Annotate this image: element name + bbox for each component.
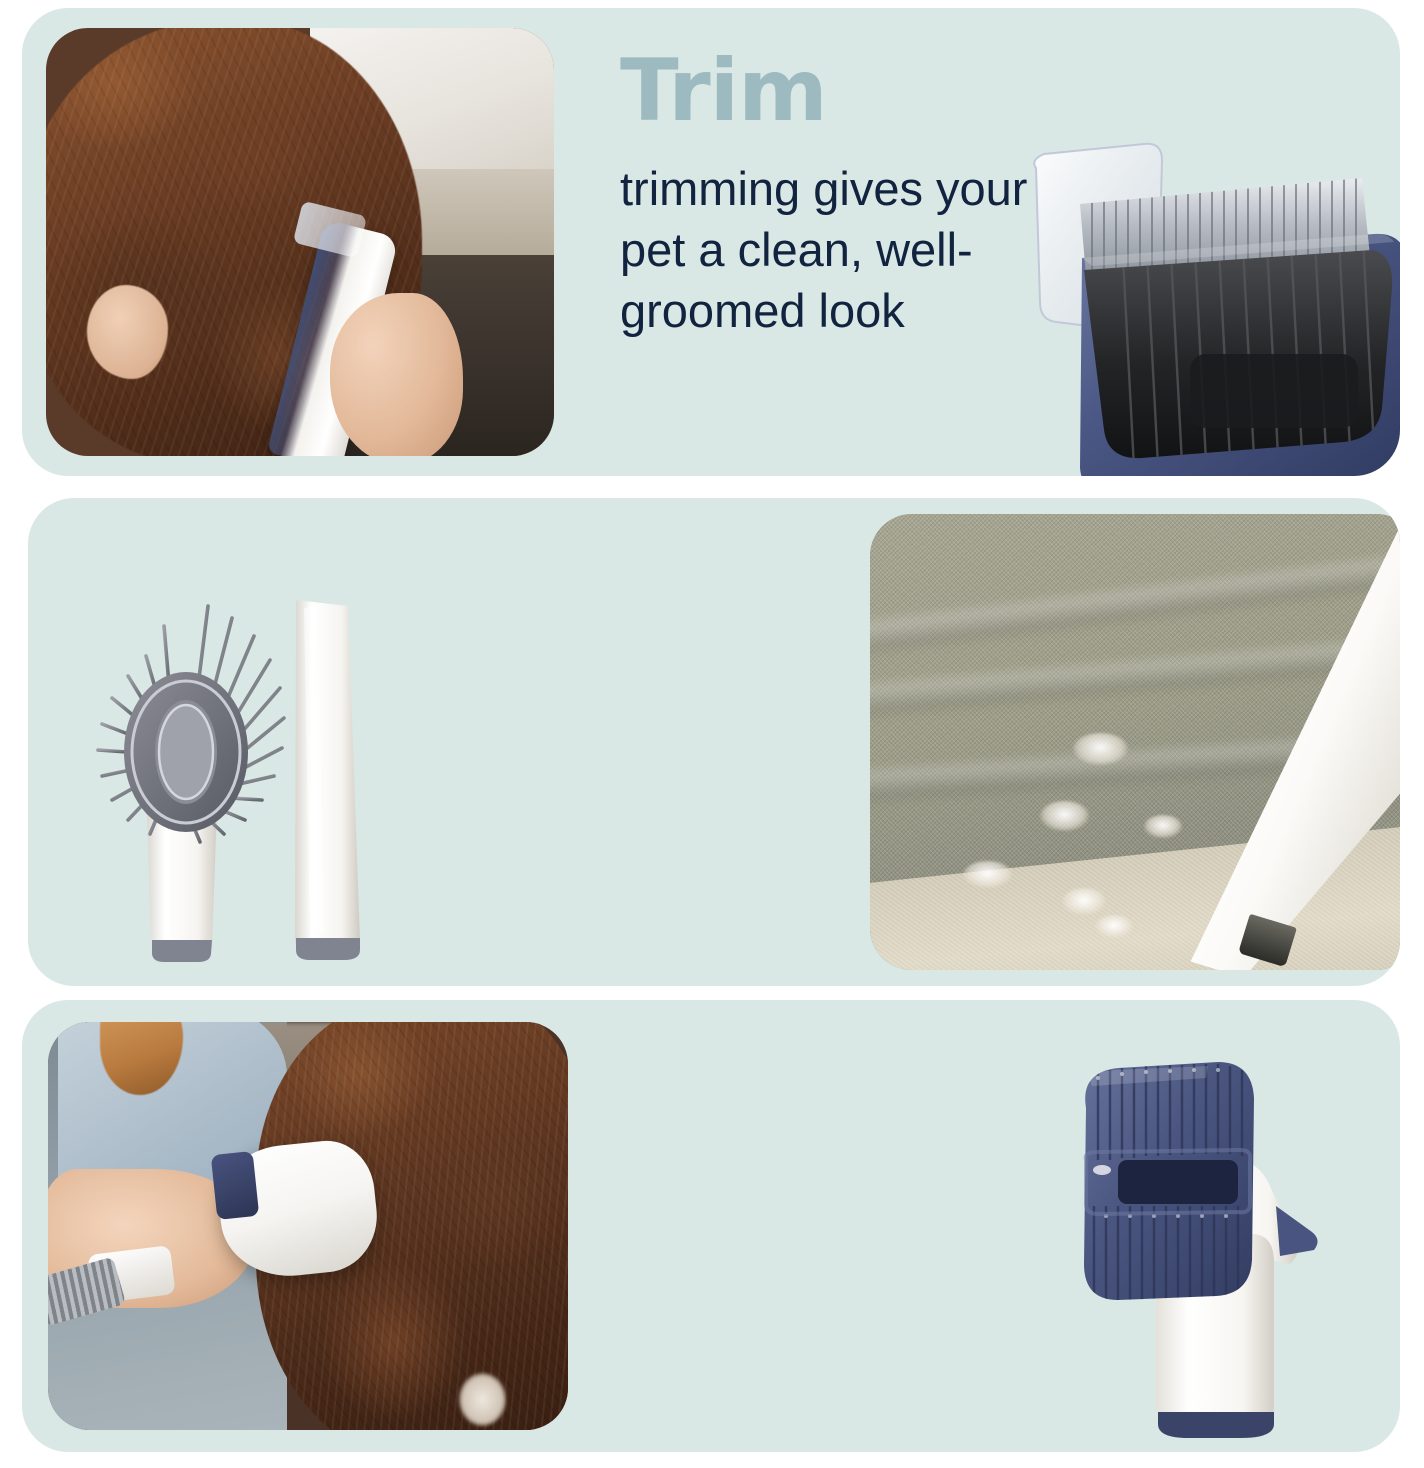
photo-fabric-cleaning xyxy=(870,514,1400,970)
photo-lint-speck xyxy=(1062,888,1106,915)
section-panel-trim: Trim trimming gives your pet a clean, we… xyxy=(22,8,1400,476)
photo-lint-speck xyxy=(1095,915,1133,938)
section-panel-brush: Brush Keeps your pets hair smooth, healt… xyxy=(22,1000,1400,1452)
deshedding-brush-icon xyxy=(1040,1056,1400,1452)
photo-dog-white-patch xyxy=(459,1373,506,1426)
photo-grooming-head-grip xyxy=(211,1151,259,1220)
photo-lint-speck xyxy=(1040,801,1089,831)
photo-trim-dog xyxy=(46,28,554,456)
heading-trim: Trim xyxy=(620,48,1060,134)
photo-gripping-hand xyxy=(330,293,462,456)
body-text-trim: trimming gives your pet a clean, well-gr… xyxy=(620,158,1060,341)
vacuum-attachments-icon xyxy=(72,584,382,976)
photo-brushing-dog xyxy=(48,1022,568,1430)
photo-lint-speck xyxy=(963,861,1012,888)
clipper-blade-icon xyxy=(1022,138,1400,476)
product-deshedding-brush xyxy=(1040,1056,1400,1452)
product-clipper-blade xyxy=(1022,138,1400,476)
photo-lint-speck xyxy=(1144,815,1182,838)
photo-lint-speck xyxy=(1073,733,1128,765)
section-panel-clean: Clean Easily clean your house and your c… xyxy=(28,498,1400,986)
text-block-trim: Trim trimming gives your pet a clean, we… xyxy=(620,48,1060,341)
product-vacuum-attachments xyxy=(72,584,382,976)
infographic-canvas: Trim trimming gives your pet a clean, we… xyxy=(0,0,1424,1468)
